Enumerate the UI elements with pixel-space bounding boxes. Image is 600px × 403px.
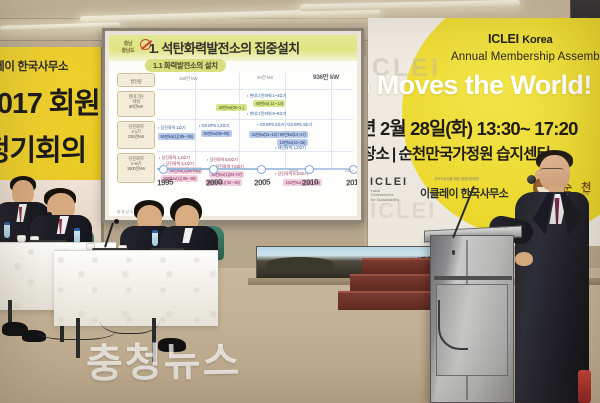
timeline-year: 2015 [346,177,357,187]
shoe [158,338,186,352]
table-microphone-icon [47,212,52,217]
ceiling-vent [497,6,557,17]
banner-org-region: Korea [522,34,552,46]
chart-gridline [285,73,286,168]
chart-chip: 50만kw(98~06) [201,130,232,137]
mural-hill-shape [267,257,333,269]
timeline-node [209,165,218,174]
chart-gridline [195,73,196,168]
chart-chip: 50만kw(1)( 95~ 99) [158,133,195,140]
floor-cable [100,300,160,334]
podium-cable [438,300,468,350]
water-bottle [4,222,10,238]
water-bottle [152,230,158,246]
banner-venue: 순천만국가정원 습지센터 [398,146,550,163]
chart-gridline [157,119,353,120]
chart-item: GS EPS 1,2호기 [199,123,229,129]
chart-chip: 40만kw( 11~ 14) [253,100,285,107]
banner-subtitle: Annual Membership Assemby [451,51,600,63]
podium-control-icon [452,250,455,255]
chart-gridline [239,73,240,168]
banner-left-line2: 정기회의 [0,127,104,169]
timeline-year: 2010 [302,177,319,187]
chart-row-label: 당진화력1~8기1600만kW [117,153,155,183]
banner-left: 클레이 한국사무소 2017 회원 정기회의 [0,47,104,180]
korea-office-tagline: 지속가능성을 위한 세계지방정부 [434,177,479,182]
speaker-hand [515,252,533,266]
chart-item: 현대그린파워 5~8호기 [247,111,286,117]
projection-screen: 충남충남도 1. 석탄화력발전소의 집중설치 1.1 화력발전소의 설치 발전량… [102,28,364,223]
slide-title: 1. 석탄화력발전소의 집중설치 [149,38,299,57]
chart-capacity-total: 936만 kW [313,72,339,81]
banner-venue-row: 장소|순천만국가정원 습지센터 [368,142,550,164]
timeline-tick-label: 2008 [289,168,298,173]
chart-item: 당진화력 1호기 [158,125,186,131]
slide-org-logo-icon: 충남충남도 [113,41,143,56]
chart-row-label: 현대그린파워80만kW [117,91,155,117]
timeline-year: 2005 [254,177,271,187]
iclei-logo-icon: ICLEI [370,176,408,188]
podium-microphone-icon [527,175,536,184]
table-microphone-icon [114,219,119,224]
chart-item: 태안화력 1,2호기 [275,145,306,151]
slide-subtitle: 1.1 화력발전소의 설치 [145,59,226,72]
banner-slogan: n Moves the World! [368,70,592,101]
chart-row-label: 발전량 [117,73,155,87]
speaker-glasses-icon [540,168,564,175]
korea-office-name: 이클레이 한국사무소 [420,185,508,201]
iclei-tagline: LocalGovernmentsfor Sustainability [371,189,399,202]
slide-chart: 발전량 현대그린파워80만kW 당진화력4·1기236만kW 당진화력1~8기1… [117,73,353,186]
banner-left-line1: 2017 회원 [0,80,104,122]
chart-capacity-label: 150만 kW [179,76,197,82]
timeline-year: 2000 [206,177,223,187]
chart-chip: 40만kw(08~1..) [216,104,247,111]
conference-photo: 클레이 한국사무소 2017 회원 정기회의 충남충남도 1. 석탄화력발전소의… [0,0,600,403]
chart-chip: 42만kw(11~13) / 60만kw(14~17) [249,131,308,138]
timeline-tick-label: 2001 [193,168,202,173]
chart-gridline [157,89,353,90]
timeline-axis [157,168,351,170]
thermos [578,370,591,403]
podium-shelf [434,276,512,280]
banner-date: 7년 2월 28일(화) 13:30~ 17:20 [368,115,578,141]
timeline-tick-label: 2017 [345,168,354,173]
presentation-slide: 충남충남도 1. 석탄화력발전소의 집중설치 1.1 화력발전소의 설치 발전량… [109,35,357,216]
timeline-node [257,165,266,174]
chart-capacity-label: 60만 kW [257,75,273,81]
banner-venue-label: 장소 [368,146,389,163]
banner-org-name: ICLEI [488,32,519,46]
chart-item: 현대그린파워 1~4호기 [247,93,286,99]
chart-gridline [331,73,332,168]
timeline-node [305,165,314,174]
chart-gridline [157,151,353,152]
chart-item: GS EPS 3호기 / GS EPS 4호기 [257,122,312,128]
timeline-node [159,165,168,174]
banner-org-title: ICLEI Korea [488,32,552,46]
banner-left-org: 클레이 한국사무소 [0,58,104,74]
timeline-year: 1995 [157,177,174,187]
chart-item: 당진화력 5,6호기 [207,157,238,163]
chart-row-label: 당진화력4·1기236만kW [117,121,155,149]
